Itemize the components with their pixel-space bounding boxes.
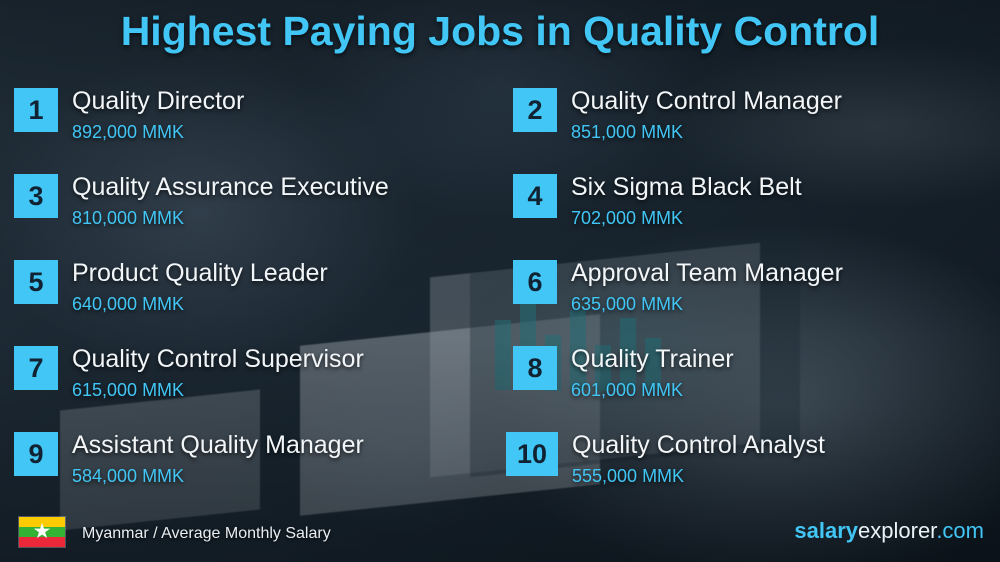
rank-badge: 9 [14,432,58,476]
job-text: Assistant Quality Manager 584,000 MMK [72,430,364,490]
job-text: Product Quality Leader 640,000 MMK [72,258,328,318]
rank-badge: 4 [513,174,557,218]
job-text: Quality Control Analyst 555,000 MMK [572,430,825,490]
footer: ★ Myanmar / Average Monthly Salary salar… [0,516,1000,562]
job-salary: 702,000 MMK [571,204,802,232]
rank-badge: 1 [14,88,58,132]
brand-part-domain: .com [936,518,984,543]
job-salary: 635,000 MMK [571,290,843,318]
job-item-4[interactable]: 4 Six Sigma Black Belt 702,000 MMK [513,172,802,256]
rank-badge: 8 [513,346,557,390]
job-item-9[interactable]: 9 Assistant Quality Manager 584,000 MMK [14,430,364,514]
rank-badge: 5 [14,260,58,304]
myanmar-flag-icon: ★ [18,516,66,548]
job-text: Quality Assurance Executive 810,000 MMK [72,172,389,232]
job-text: Quality Control Supervisor 615,000 MMK [72,344,364,404]
job-text: Approval Team Manager 635,000 MMK [571,258,843,318]
country-label: Myanmar / Average Monthly Salary [82,525,331,543]
rank-badge: 3 [14,174,58,218]
job-item-1[interactable]: 1 Quality Director 892,000 MMK [14,86,244,170]
brand-part-salary: salary [794,518,858,543]
job-item-5[interactable]: 5 Product Quality Leader 640,000 MMK [14,258,328,342]
job-text: Quality Control Manager 851,000 MMK [571,86,842,146]
job-title: Assistant Quality Manager [72,430,364,460]
job-salary: 615,000 MMK [72,376,364,404]
job-salary: 555,000 MMK [572,462,825,490]
rank-badge: 6 [513,260,557,304]
job-salary: 892,000 MMK [72,118,244,146]
job-salary: 851,000 MMK [571,118,842,146]
job-salary: 601,000 MMK [571,376,734,404]
page-title: Highest Paying Jobs in Quality Control [0,8,1000,55]
rank-badge: 10 [506,432,558,476]
job-item-2[interactable]: 2 Quality Control Manager 851,000 MMK [513,86,842,170]
job-title: Quality Assurance Executive [72,172,389,202]
rank-badge: 2 [513,88,557,132]
job-salary: 640,000 MMK [72,290,328,318]
job-item-3[interactable]: 3 Quality Assurance Executive 810,000 MM… [14,172,389,256]
job-title: Six Sigma Black Belt [571,172,802,202]
job-text: Quality Director 892,000 MMK [72,86,244,146]
job-item-8[interactable]: 8 Quality Trainer 601,000 MMK [513,344,734,428]
job-title: Quality Control Analyst [572,430,825,460]
job-title: Quality Director [72,86,244,116]
job-salary: 584,000 MMK [72,462,364,490]
jobs-grid: 1 Quality Director 892,000 MMK 2 Quality… [0,86,1000,506]
job-title: Quality Control Manager [571,86,842,116]
job-text: Six Sigma Black Belt 702,000 MMK [571,172,802,232]
job-title: Product Quality Leader [72,258,328,288]
job-title: Quality Control Supervisor [72,344,364,374]
job-item-6[interactable]: 6 Approval Team Manager 635,000 MMK [513,258,843,342]
job-title: Quality Trainer [571,344,734,374]
brand-logo[interactable]: salaryexplorer.com [794,518,984,544]
job-salary: 810,000 MMK [72,204,389,232]
infographic-canvas: Highest Paying Jobs in Quality Control 1… [0,0,1000,562]
job-item-10[interactable]: 10 Quality Control Analyst 555,000 MMK [506,430,825,514]
job-item-7[interactable]: 7 Quality Control Supervisor 615,000 MMK [14,344,364,428]
rank-badge: 7 [14,346,58,390]
job-title: Approval Team Manager [571,258,843,288]
job-text: Quality Trainer 601,000 MMK [571,344,734,404]
brand-part-explorer: explorer [858,518,936,543]
